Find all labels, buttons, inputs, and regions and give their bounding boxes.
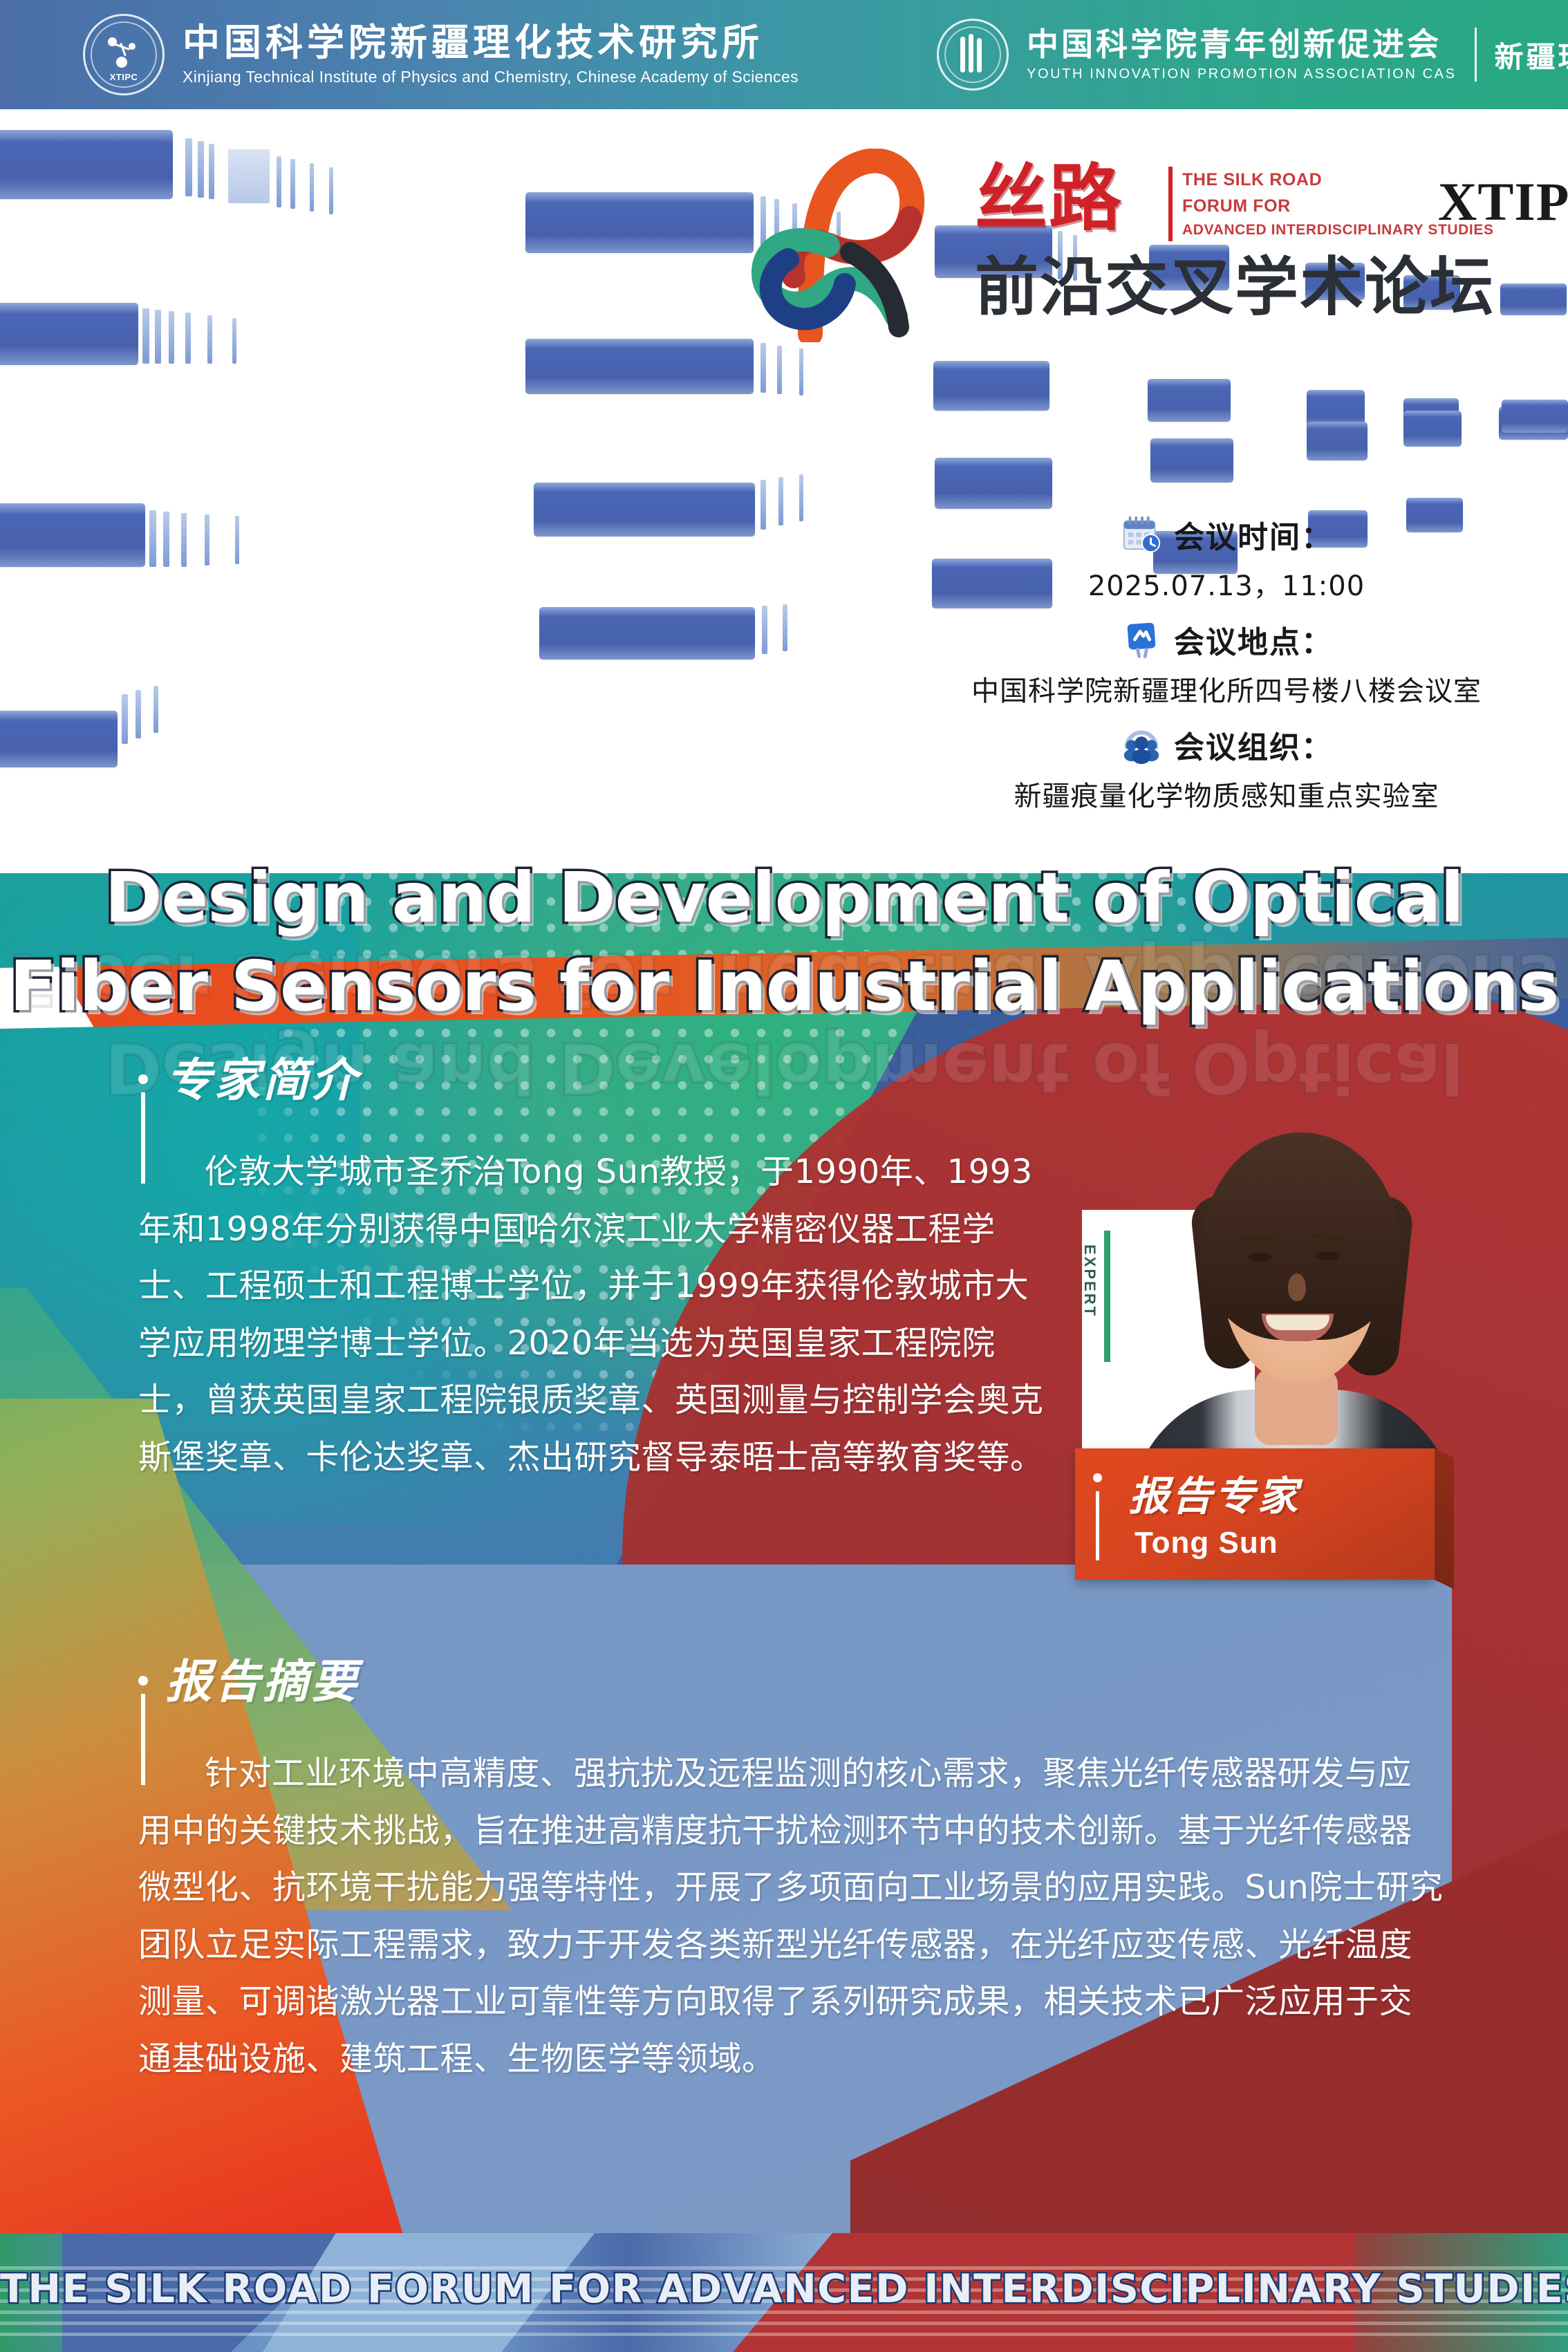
abstract-paragraph: 针对工业环境中高精度、强抗扰及远程监测的核心需求，聚焦光纤传感器研发与应用中的关… [138,1745,1445,2087]
portrait-eye-left [1248,1253,1271,1262]
institute-logo-left: XTIPC 中国科学院新疆理化技术研究所 Xinjiang Technical … [83,14,799,95]
meeting-org-value: 新疆痕量化学物质感知重点实验室 [885,774,1568,814]
portrait-eye-right [1316,1251,1339,1260]
forum-mark-cn: 丝路 [975,158,1151,248]
yipa-seal-icon [937,19,1009,91]
meeting-info: 会议时间： 2025.07.13，11:00 会议地点： 中国科学院新疆理化所四… [885,508,1568,828]
meeting-place-row: 会议地点： [885,617,1568,662]
meeting-time-value: 2025.07.13，11:00 [885,563,1568,604]
forum-en-line2: FORUM FOR [1182,193,1397,219]
speaker-card: EXPERT 报告专家 Tong Sun [1068,1085,1455,1583]
section-stem-line [141,1092,145,1184]
r-ribbon-icon [747,149,961,342]
meeting-place-label: 会议地点： [1174,617,1333,662]
banner-stem-line [1096,1491,1099,1560]
meeting-org-label: 会议组织： [1174,722,1333,767]
seal-acronym: XTIPC [85,72,162,82]
speaker-name: Tong Sun [1135,1526,1278,1560]
forum-acronym: XTIPC [1438,171,1568,233]
title-line-2: Fiber Sensors for Industrial Application… [0,942,1568,1031]
association-name-cn: 中国科学院青年创新促进会 [1027,27,1456,62]
forum-en-line3: ADVANCED INTERDISCIPLINARY STUDIES [1182,219,1397,241]
bio-heading: 专家简介 [166,1058,360,1103]
conference-poster: XTIPC 中国科学院新疆理化技术研究所 Xinjiang Technical … [0,0,1568,2352]
poster-footer: THE SILK ROAD FORUM FOR ADVANCED INTERDI… [0,2233,1568,2352]
header-divider [1475,28,1477,82]
institute-name-en: Xinjiang Technical Institute of Physics … [183,68,799,86]
title-line-1: Design and Development of Optical [0,854,1568,942]
portrait-teeth [1266,1315,1329,1330]
bullet-dot-icon [138,1074,148,1084]
meeting-time-row: 会议时间： [885,512,1568,557]
location-board-icon [1120,618,1163,661]
people-group-icon [1120,723,1163,766]
portrait-hair-top [1201,1132,1401,1340]
association-logo-right: 中国科学院青年创新促进会 YOUTH INNOVATION PROMOTION … [937,19,1568,91]
bullet-dot-icon [138,1676,148,1686]
wave-glyph [959,34,987,75]
speaker-side-tag: EXPERT [1081,1244,1099,1318]
meeting-time-label: 会议时间： [1174,512,1333,557]
xtipc-seal-icon: XTIPC [83,14,165,95]
section-stem-line [141,1694,145,1785]
meeting-org-row: 会议组织： [885,722,1568,767]
speaker-accent-bar [1104,1231,1110,1362]
association-group-cn: 新疆理化技术研究所小组 [1495,34,1568,76]
forum-logo: 丝路 THE SILK ROAD FORUM FOR ADVANCED INTE… [747,142,1493,349]
page-title: Design and Development of Optical Fiber … [0,854,1568,1031]
upper-decorative-zone: 丝路 THE SILK ROAD FORUM FOR ADVANCED INTE… [0,109,1568,873]
association-name-en: YOUTH INNOVATION PROMOTION ASSOCIATION C… [1027,66,1456,82]
footer-title: THE SILK ROAD FORUM FOR ADVANCED INTERDI… [0,2266,1568,2312]
calendar-clock-icon [1120,513,1163,556]
bio-paragraph: 伦敦大学城市圣乔治Tong Sun教授，于1990年、1993年和1998年分别… [138,1144,1058,1486]
bullet-dot-icon [1093,1473,1102,1482]
meeting-place-value: 中国科学院新疆理化所四号楼八楼会议室 [885,669,1568,709]
speaker-role-label: 报告专家 [1129,1464,1300,1522]
speaker-name-banner: 报告专家 Tong Sun [1075,1448,1435,1580]
expert-bio-section: 专家简介 伦敦大学城市圣乔治Tong Sun教授，于1990年、1993年和19… [138,1058,1058,1486]
forum-subtitle-cn: 前沿交叉学术论坛 [975,256,1495,319]
institute-name-cn: 中国科学院新疆理化技术研究所 [183,23,799,63]
report-abstract-section: 报告摘要 针对工业环境中高精度、强抗扰及远程监测的核心需求，聚焦光纤传感器研发与… [138,1659,1445,2087]
forum-en-line1: THE SILK ROAD [1182,167,1397,193]
molecule-glyph [105,36,142,73]
poster-header-bar: XTIPC 中国科学院新疆理化技术研究所 Xinjiang Technical … [0,0,1568,109]
portrait-nose [1288,1273,1306,1301]
forum-name-en: THE SILK ROAD FORUM FOR ADVANCED INTERDI… [1168,167,1397,241]
abstract-heading: 报告摘要 [166,1659,360,1705]
